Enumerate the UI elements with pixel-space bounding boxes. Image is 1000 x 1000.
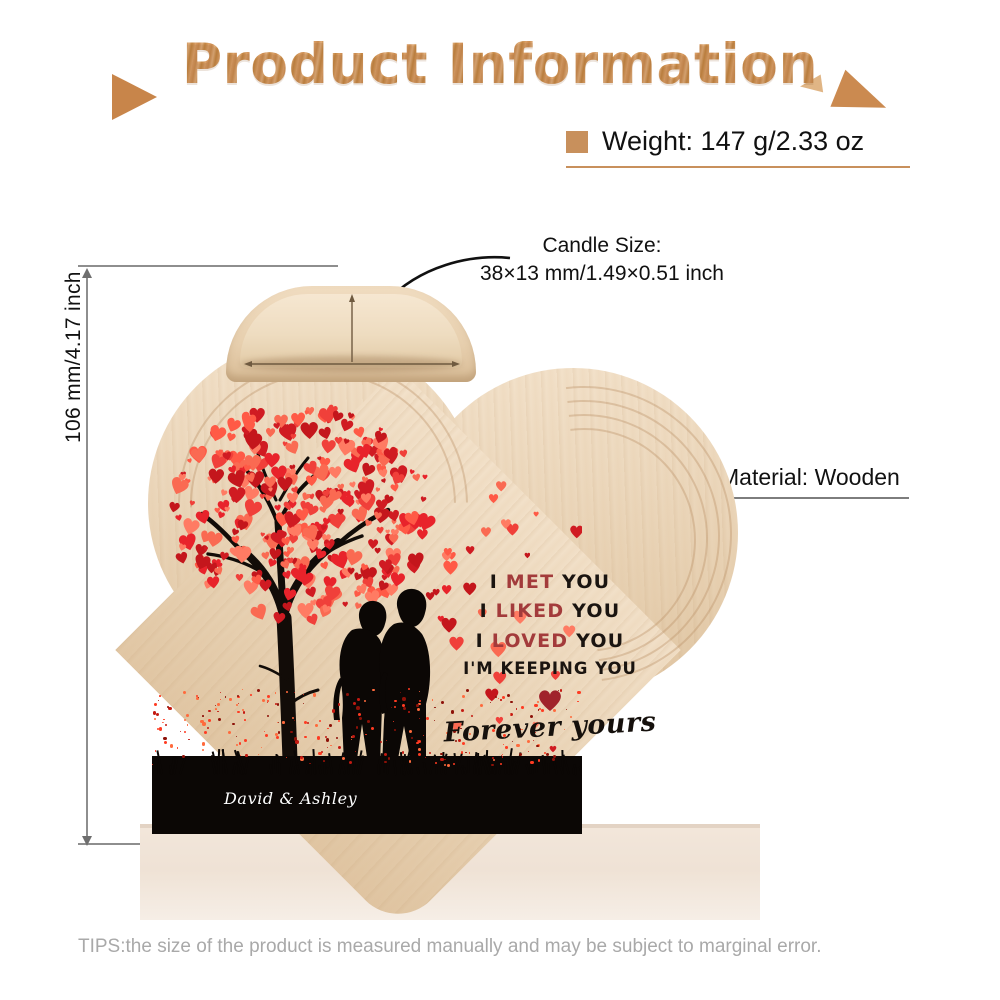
glitter-speck	[318, 752, 322, 756]
falling-heart-icon	[524, 552, 531, 559]
glitter-speck	[307, 722, 309, 724]
glitter-speck	[304, 736, 306, 738]
glitter-speck	[536, 745, 538, 747]
height-dimension-label: 106 mm/4.17 inch	[62, 271, 86, 443]
glitter-speck	[163, 719, 165, 721]
glitter-speck	[326, 738, 329, 741]
glitter-speck	[163, 737, 166, 740]
glitter-speck	[313, 693, 317, 697]
glitter-speck	[239, 742, 242, 745]
falling-heart-icon	[480, 526, 492, 538]
falling-heart-icon	[488, 493, 499, 504]
glitter-speck	[505, 746, 508, 749]
glitter-speck	[409, 730, 412, 733]
glitter-speck	[432, 699, 434, 701]
glitter-speck	[155, 750, 156, 751]
glitter-speck	[257, 689, 260, 692]
glitter-speck	[232, 723, 234, 725]
heart-leaf-icon	[327, 464, 343, 480]
falling-heart-icon	[465, 545, 475, 555]
glitter-speck	[338, 703, 341, 706]
glitter-speck	[528, 751, 529, 752]
glitter-speck	[356, 706, 360, 710]
glitter-speck	[351, 739, 352, 740]
heart-leaf-icon	[286, 556, 294, 564]
weight-label: Weight: 147 g/2.33 oz	[602, 126, 864, 157]
heart-leaf-icon	[375, 497, 390, 512]
couple-names: David & Ashley	[224, 789, 357, 808]
glitter-speck	[469, 752, 471, 754]
glitter-speck	[202, 742, 205, 745]
glitter-speck	[154, 703, 157, 706]
heart-leaf-icon	[374, 547, 381, 554]
glitter-speck	[327, 747, 328, 748]
heart-leaf-icon	[294, 506, 311, 523]
glitter-speck	[552, 758, 555, 761]
glitter-speck	[461, 751, 463, 753]
quote-heart-icon	[537, 688, 563, 712]
glitter-speck	[357, 698, 360, 701]
glitter-speck	[202, 722, 206, 726]
falling-heart-icon	[549, 745, 557, 753]
heart-leaf-icon	[221, 450, 233, 462]
glitter-speck	[200, 720, 203, 723]
glitter-speck	[426, 717, 429, 720]
glitter-speck	[349, 761, 352, 764]
falling-heart-icon	[443, 547, 453, 557]
heart-leaf-icon	[388, 533, 400, 545]
falling-heart-icon	[533, 511, 539, 517]
glitter-speck	[355, 751, 357, 753]
heart-leaf-icon	[339, 493, 354, 508]
heart-leaf-icon	[319, 437, 338, 456]
glitter-speck	[342, 757, 345, 760]
quote-2-accent: LIKED	[496, 600, 565, 622]
glitter-speck	[204, 731, 207, 734]
heart-leaf-icon	[272, 421, 281, 430]
heart-leaf-icon	[262, 450, 281, 469]
glitter-speck	[418, 748, 421, 751]
heart-leaf-icon	[231, 543, 253, 565]
glitter-speck	[425, 757, 426, 758]
glitter-speck	[229, 698, 231, 700]
product-information-page: Product Information Weight: 147 g/2.33 o…	[0, 0, 1000, 1000]
glitter-speck	[180, 731, 181, 732]
glitter-speck	[416, 704, 419, 707]
heart-leaf-icon	[276, 475, 294, 493]
glitter-speck	[152, 764, 153, 765]
glitter-speck	[315, 724, 318, 727]
quote-line-1: I MET YOU	[440, 568, 660, 597]
heart-leaf-icon	[287, 533, 299, 545]
quote-block: I MET YOU I LIKED YOU I LOVED YOU I'M KE…	[440, 568, 660, 743]
glitter-speck	[493, 759, 495, 761]
quote-closing-line: I'M KEEPING YOU	[440, 656, 660, 682]
glitter-speck	[262, 699, 265, 702]
glitter-speck	[243, 711, 246, 714]
heart-leaf-icon	[177, 473, 186, 482]
glitter-speck	[492, 757, 494, 759]
glitter-speck	[156, 713, 159, 716]
falling-heart-icon	[500, 518, 512, 530]
quote-1-prefix: I	[490, 571, 506, 593]
heart-leaf-icon	[359, 491, 372, 504]
grass-blade	[435, 766, 438, 775]
glitter-speck	[275, 692, 276, 693]
falling-heart-icon	[495, 480, 507, 492]
glitter-speck	[245, 754, 248, 757]
glitter-speck	[182, 755, 185, 758]
falling-heart-icon	[569, 524, 582, 540]
glitter-speck	[323, 760, 325, 762]
glitter-speck	[159, 695, 161, 697]
glitter-speck	[236, 744, 238, 746]
glitter-speck	[502, 756, 503, 757]
glitter-speck	[244, 719, 246, 721]
quote-line-2: I LIKED YOU	[440, 597, 660, 626]
glitter-speck	[258, 754, 259, 755]
falling-heart-icon	[422, 474, 428, 480]
glitter-speck	[295, 740, 299, 744]
grass-blade	[520, 763, 522, 774]
glitter-speck	[393, 721, 394, 722]
glitter-speck	[286, 757, 287, 758]
weight-underline	[566, 166, 910, 168]
heart-leaf-icon	[205, 574, 221, 590]
glitter-speck	[400, 692, 401, 693]
script-line: Forever yours	[439, 706, 660, 748]
glitter-speck	[240, 755, 241, 756]
glitter-speck	[303, 694, 304, 695]
glitter-speck	[158, 700, 159, 701]
heart-leaf-icon	[411, 472, 422, 483]
quote-2-suffix: YOU	[564, 600, 620, 622]
quote-3-suffix: YOU	[568, 630, 624, 652]
glitter-speck	[267, 700, 269, 702]
glitter-speck	[346, 693, 349, 696]
glitter-speck	[402, 751, 404, 753]
quote-1-suffix: YOU	[554, 571, 610, 593]
bullet-square-icon	[566, 131, 588, 153]
glitter-speck	[154, 718, 156, 720]
heart-leaf-icon	[304, 473, 318, 487]
heart-leaf-icon	[319, 523, 328, 532]
heart-leaf-icon	[337, 508, 345, 516]
height-extension-top	[78, 265, 338, 267]
glitter-speck	[159, 727, 163, 731]
glitter-speck	[402, 704, 405, 707]
glitter-speck	[317, 736, 320, 739]
glitter-speck	[165, 724, 168, 727]
heart-leaf-icon	[243, 419, 257, 433]
grass-blade	[504, 761, 507, 774]
quote-3-accent: LOVED	[492, 630, 569, 652]
glitter-speck	[519, 753, 522, 756]
glitter-speck	[170, 744, 173, 747]
glitter-speck	[164, 741, 167, 744]
quote-2-prefix: I	[480, 600, 496, 622]
glitter-speck	[304, 721, 307, 724]
glitter-speck	[544, 752, 546, 754]
tips-note: TIPS:the size of the product is measured…	[78, 936, 821, 958]
title-block: Product Information	[0, 32, 1000, 112]
heart-leaf-icon	[206, 466, 226, 486]
heart-leaf-icon	[214, 506, 221, 513]
grass-blade	[274, 759, 276, 774]
glitter-speck	[372, 689, 374, 691]
glitter-speck	[228, 731, 231, 734]
glitter-speck	[163, 722, 164, 723]
grass-blade	[221, 749, 224, 774]
glitter-speck	[434, 707, 435, 708]
glitter-speck	[202, 715, 204, 717]
heart-leaf-icon	[188, 499, 196, 507]
glitter-speck	[187, 724, 188, 725]
glitter-speck	[186, 714, 189, 717]
heart-leaf-icon	[223, 506, 230, 513]
glitter-speck	[327, 728, 328, 729]
glitter-speck	[278, 731, 281, 734]
glitter-speck	[264, 731, 265, 732]
glitter-speck	[402, 697, 406, 701]
glitter-speck	[282, 721, 284, 723]
glitter-speck	[444, 764, 446, 766]
glitter-speck	[267, 715, 269, 717]
glitter-speck	[250, 694, 252, 696]
weight-spec: Weight: 147 g/2.33 oz	[566, 126, 864, 157]
glitter-speck	[294, 720, 295, 721]
glitter-speck	[275, 703, 277, 705]
quote-line-3: I LOVED YOU	[440, 627, 660, 656]
glitter-speck	[530, 761, 533, 764]
page-title: Product Information	[0, 32, 1000, 96]
glitter-speck	[408, 688, 410, 690]
glitter-speck	[502, 754, 503, 755]
heart-leaf-icon	[406, 549, 427, 570]
quote-1-accent: MET	[506, 571, 554, 593]
heart-leaf-icon	[377, 557, 394, 574]
glitter-speck	[332, 709, 335, 712]
glitter-speck	[244, 739, 247, 742]
heart-leaf-icon	[305, 538, 320, 553]
product-photo: David & Ashley I MET YOU I LIKED YOU I L…	[140, 268, 760, 868]
glitter-speck	[325, 736, 327, 738]
heart-leaf-icon	[231, 497, 237, 503]
glitter-speck	[300, 756, 303, 759]
quote-3-prefix: I	[476, 630, 492, 652]
